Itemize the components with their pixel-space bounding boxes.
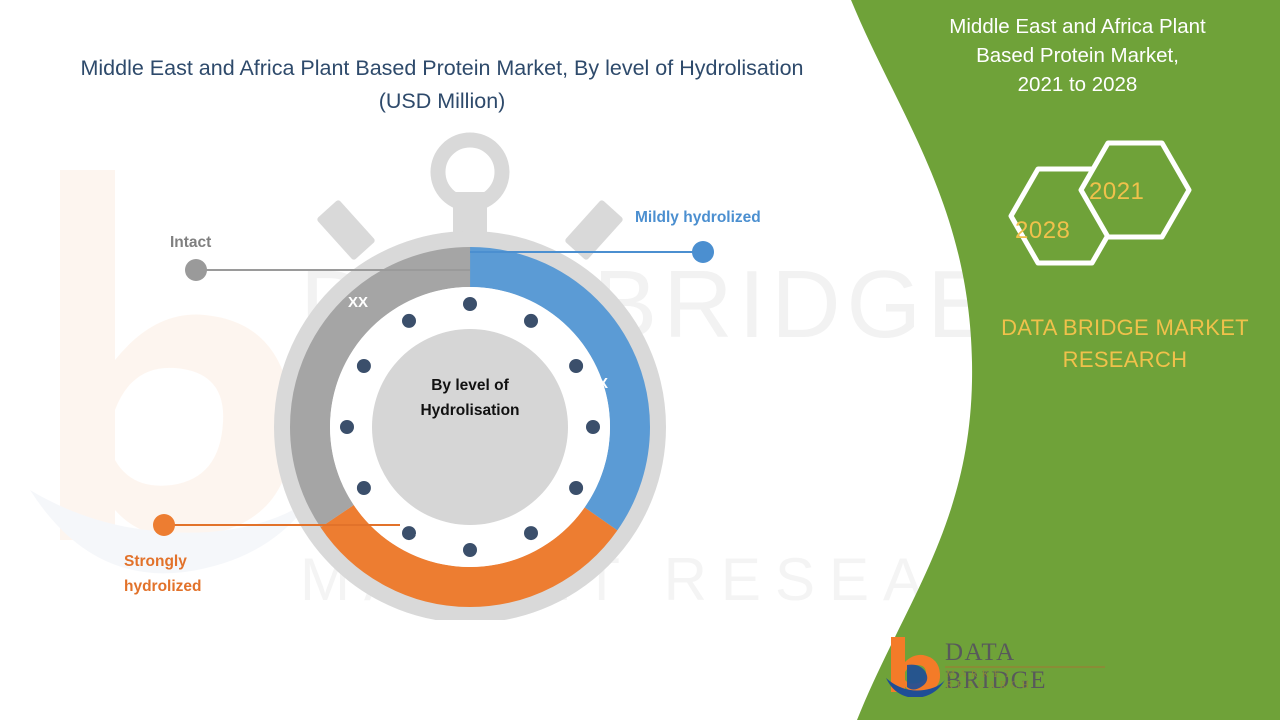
callout-label-mildly: Mildly hydrolized bbox=[635, 209, 761, 227]
segment-value-intact: XX bbox=[348, 294, 368, 311]
callout-leaders bbox=[0, 0, 1280, 720]
segment-value-mildly: XX bbox=[588, 375, 608, 392]
donut-center-line1: By level of bbox=[390, 373, 550, 398]
infographic-canvas: DATA BRIDGE MARKET RESEARCH Middle East … bbox=[0, 0, 1280, 720]
segment-value-strongly: XX bbox=[415, 531, 435, 548]
donut-center-label: By level of Hydrolisation bbox=[390, 373, 550, 423]
leader-dot-strongly bbox=[153, 514, 175, 536]
leader-dot-intact bbox=[185, 259, 207, 281]
donut-center-line2: Hydrolisation bbox=[390, 398, 550, 423]
leader-dot-mildly bbox=[692, 241, 714, 263]
callout-label-strongly: Strongly hydrolized bbox=[124, 549, 202, 599]
callout-label-intact: Intact bbox=[170, 234, 211, 252]
